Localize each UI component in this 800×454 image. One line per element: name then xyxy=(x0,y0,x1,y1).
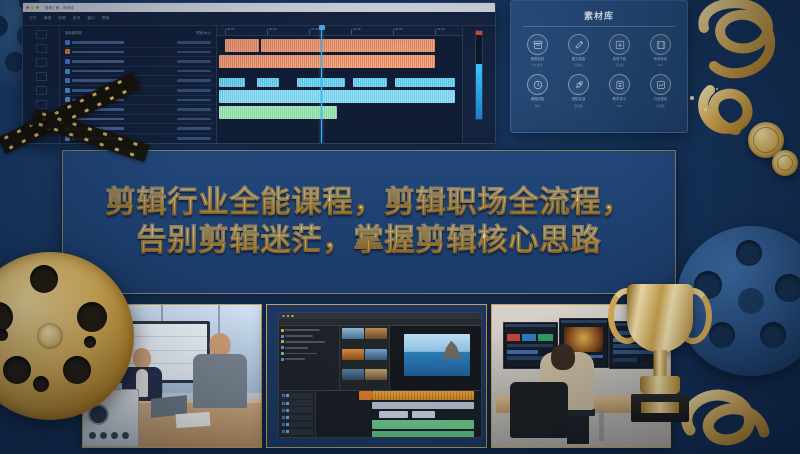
select-tool-icon[interactable] xyxy=(36,30,47,39)
sparkle-icon xyxy=(716,88,718,90)
download-icon[interactable] xyxy=(609,34,630,55)
headline-band: 剪辑行业全能课程，剪辑职场全流程， 告别剪辑迷茫，掌握剪辑核心思路 xyxy=(62,150,676,294)
media-item-name xyxy=(72,70,124,73)
timeline-clip[interactable] xyxy=(219,106,337,119)
material-tile[interactable]: 图文模板可编辑 xyxy=(560,34,597,67)
material-tile-sub: 300+ xyxy=(657,63,663,67)
material-library-card[interactable]: 素材库 视频素材4K 超清图文模板可编辑音效下载无版权转场特效300+课程回放永… xyxy=(510,0,688,133)
ruler-label: 01:00 xyxy=(311,27,319,31)
sparkle-icon xyxy=(690,96,694,100)
media-item-meta xyxy=(177,108,211,111)
timeline-clip[interactable] xyxy=(219,90,455,103)
frame-icon[interactable] xyxy=(650,34,671,55)
page-title: 剪辑行业全能课程，剪辑职场全流程， 告别剪辑迷茫，掌握剪辑核心思路 xyxy=(106,184,633,261)
timeline-clip[interactable] xyxy=(257,78,279,87)
material-tile[interactable]: 视频素材4K 超清 xyxy=(519,34,556,67)
clip-color-swatch xyxy=(65,40,70,45)
media-item-meta xyxy=(177,41,211,44)
material-tile-label: 图文模板 xyxy=(572,57,586,61)
media-item-meta xyxy=(177,70,211,73)
ruler-label: 00:00 xyxy=(227,27,235,31)
book-icon[interactable] xyxy=(609,74,630,95)
gold-ribbon-icon xyxy=(688,0,800,154)
menu-sequence[interactable]: 序列 xyxy=(73,16,81,21)
material-tile-sub: 年度版 xyxy=(656,104,664,108)
material-tile-sub: 4K 超清 xyxy=(533,63,543,67)
media-item-name xyxy=(72,60,124,63)
text-tool-icon[interactable] xyxy=(36,86,47,95)
media-list-item[interactable] xyxy=(62,48,214,58)
archive-icon[interactable] xyxy=(527,34,548,55)
maximize-icon[interactable] xyxy=(36,6,39,9)
media-item-name xyxy=(72,51,124,54)
material-tile[interactable]: 音效下载无版权 xyxy=(601,34,638,67)
timeline-clip[interactable] xyxy=(219,78,245,87)
material-tile-label: 进阶实战 xyxy=(572,97,586,101)
clip-color-swatch xyxy=(65,88,70,93)
timeline-playhead[interactable] xyxy=(321,26,322,144)
material-tile[interactable]: 行业报告年度版 xyxy=(642,74,679,107)
timeline-panel[interactable]: 00:0000:3001:0001:3002:0002:30 xyxy=(217,26,462,144)
media-list-item[interactable] xyxy=(62,67,214,77)
headline-line-2: 告别剪辑迷茫，掌握剪辑核心思路 xyxy=(106,222,633,260)
media-list-item[interactable] xyxy=(62,57,214,67)
audio-meter-panel xyxy=(462,26,495,144)
pen-icon[interactable] xyxy=(568,34,589,55)
clip-color-swatch xyxy=(65,49,70,54)
zoom-tool-icon[interactable] xyxy=(36,72,47,81)
close-icon[interactable] xyxy=(26,6,29,9)
audio-level-meter xyxy=(475,30,483,120)
clip-color-swatch xyxy=(65,69,70,74)
material-tile[interactable]: 转场特效300+ xyxy=(642,34,679,67)
timeline-clip[interactable] xyxy=(261,39,435,52)
editing-software-photo xyxy=(266,304,487,448)
media-item-meta xyxy=(177,118,211,121)
material-tile-label: 课程回放 xyxy=(531,97,545,101)
clip-color-swatch xyxy=(65,78,70,83)
gold-coin-small-icon xyxy=(772,150,798,176)
editor-titlebar: 剪辑工程 - 时间线 xyxy=(23,3,495,12)
divider xyxy=(523,26,675,27)
razor-tool-icon[interactable] xyxy=(36,44,47,53)
video-editor-window[interactable]: 剪辑工程 - 时间线 文件 编辑 剪辑 序列 窗口 帮助 媒体素材库 xyxy=(22,2,496,144)
media-item-name xyxy=(72,118,124,121)
editor-title: 剪辑工程 - 时间线 xyxy=(45,5,74,10)
material-tile-sub: 可编辑 xyxy=(574,63,582,67)
media-list-item[interactable] xyxy=(62,38,214,48)
media-item-name xyxy=(72,41,124,44)
material-tile[interactable]: 教学讲义PDF xyxy=(601,74,638,107)
media-col-meta: 时长/大小 xyxy=(196,30,211,35)
course-promo-poster: 剪辑工程 - 时间线 文件 编辑 剪辑 序列 窗口 帮助 媒体素材库 xyxy=(0,0,800,454)
timeline-clip[interactable] xyxy=(395,78,455,87)
gold-trophy-icon xyxy=(612,276,708,448)
material-tile-sub: 项目制 xyxy=(574,104,582,108)
media-item-meta xyxy=(177,60,211,63)
clock-icon[interactable] xyxy=(527,74,548,95)
material-tile[interactable]: 课程回放永久 xyxy=(519,74,556,107)
minimize-icon[interactable] xyxy=(31,6,34,9)
material-tile[interactable]: 进阶实战项目制 xyxy=(560,74,597,107)
chart-icon[interactable] xyxy=(650,74,671,95)
rocket-icon[interactable] xyxy=(568,74,589,95)
media-item-meta xyxy=(177,51,211,54)
timeline-clip[interactable] xyxy=(353,78,387,87)
material-tile-label: 行业报告 xyxy=(654,97,668,101)
ruler-label: 00:30 xyxy=(269,27,277,31)
material-tile-label: 教学讲义 xyxy=(613,97,627,101)
sparkle-icon xyxy=(704,108,707,111)
menu-file[interactable]: 文件 xyxy=(29,16,37,21)
material-tile-sub: 永久 xyxy=(535,104,541,108)
material-tile-label: 转场特效 xyxy=(654,57,668,61)
ruler-label: 01:30 xyxy=(353,27,361,31)
menu-help[interactable]: 帮助 xyxy=(102,16,110,21)
menu-clip[interactable]: 剪辑 xyxy=(58,16,66,21)
timeline-clip[interactable] xyxy=(225,39,259,52)
office-meeting-photo xyxy=(82,304,262,448)
menu-window[interactable]: 窗口 xyxy=(87,16,95,21)
material-tile-label: 音效下载 xyxy=(613,57,627,61)
clip-color-swatch xyxy=(65,59,70,64)
media-item-meta xyxy=(177,127,211,130)
media-item-meta xyxy=(177,89,211,92)
hand-tool-icon[interactable] xyxy=(36,58,47,67)
material-tile-sub: 无版权 xyxy=(615,63,623,67)
menu-edit[interactable]: 编辑 xyxy=(44,16,52,21)
ruler-label: 02:00 xyxy=(395,27,403,31)
material-tile-label: 视频素材 xyxy=(531,57,545,61)
material-library-title: 素材库 xyxy=(519,9,679,22)
editor-menubar[interactable]: 文件 编辑 剪辑 序列 窗口 帮助 xyxy=(23,12,495,26)
material-tile-sub: PDF xyxy=(617,104,623,108)
headline-line-1: 剪辑行业全能课程，剪辑职场全流程， xyxy=(106,184,633,222)
ruler-label: 02:30 xyxy=(437,27,445,31)
media-item-meta xyxy=(177,137,211,140)
media-item-meta xyxy=(177,99,211,102)
timeline-clip[interactable] xyxy=(219,55,435,68)
media-item-meta xyxy=(177,79,211,82)
media-col-name: 媒体素材库 xyxy=(65,30,82,35)
